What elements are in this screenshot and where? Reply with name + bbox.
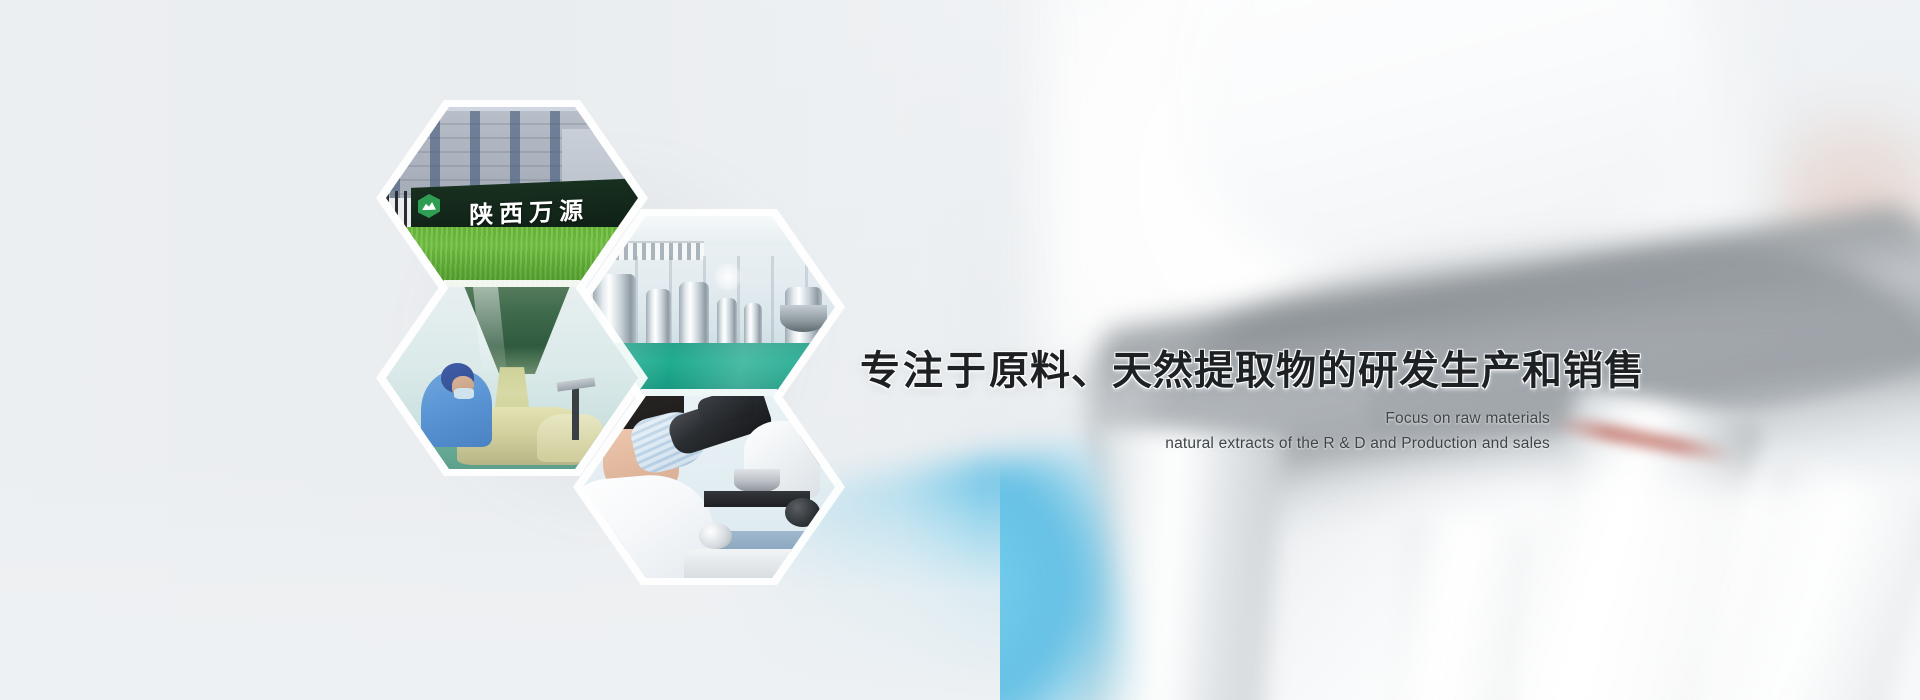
subtitle-line-1: Focus on raw materials [860,406,1550,431]
extraction-tank-4 [717,298,737,347]
page-title: 专注于原料、天然提取物的研发生产和销售 [860,350,1550,393]
hexagon-photo-cluster: 陕西万源 [0,0,920,620]
support-pole [572,382,578,440]
hero-text-block: 专注于原料、天然提取物的研发生产和销售 Focus on raw materia… [860,350,1550,456]
subtitle-line-2: natural extracts of the R & D and Produc… [860,431,1550,456]
headline-lead: 专注于 [860,349,989,393]
headline-main: 原料、天然提取物的研发生产和销售 [989,349,1645,393]
extraction-tank-5 [744,303,762,347]
microscope-objective-turret [734,469,779,493]
lab-coat-blur [1250,470,1920,700]
extraction-tank-2 [646,289,671,347]
hero-banner: 陕西万源 [0,0,1920,700]
worker-mask [454,388,474,399]
microscope-condenser-knob [699,523,732,548]
extraction-tank-3 [679,282,709,348]
